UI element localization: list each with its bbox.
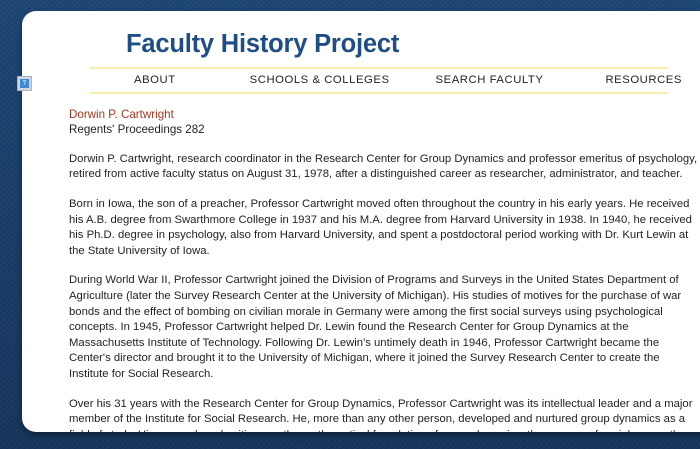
nav-item-resources[interactable]: RESOURCES [605, 74, 682, 86]
nav-item-about[interactable]: ABOUT [134, 74, 176, 86]
content-card: Faculty History Project ABOUT SCHOOLS & … [22, 11, 700, 432]
body-paragraph: Over his 31 years with the Research Cent… [69, 397, 700, 432]
faculty-name: Dorwin P. Cartwright [69, 107, 700, 122]
broken-image-icon[interactable]: ? [17, 76, 32, 91]
page-title: Faculty History Project [80, 11, 700, 58]
body-paragraph: Dorwin P. Cartwright, research coordinat… [69, 152, 700, 183]
body-paragraph: During World War II, Professor Cartwrigh… [69, 273, 700, 382]
record-source: Regents' Proceedings 282 [69, 122, 700, 137]
card-inner: Faculty History Project [22, 11, 700, 58]
broken-image-glyph: ? [20, 79, 29, 88]
nav-item-schools-colleges[interactable]: SCHOOLS & COLLEGES [250, 74, 390, 86]
nav-item-search-faculty[interactable]: SEARCH FACULTY [436, 74, 544, 86]
article-body: Dorwin P. Cartwright Regents' Proceeding… [22, 94, 700, 432]
main-navigation: ABOUT SCHOOLS & COLLEGES SEARCH FACULTY … [90, 69, 668, 91]
body-paragraph: Born in Iowa, the son of a preacher, Pro… [69, 197, 700, 259]
